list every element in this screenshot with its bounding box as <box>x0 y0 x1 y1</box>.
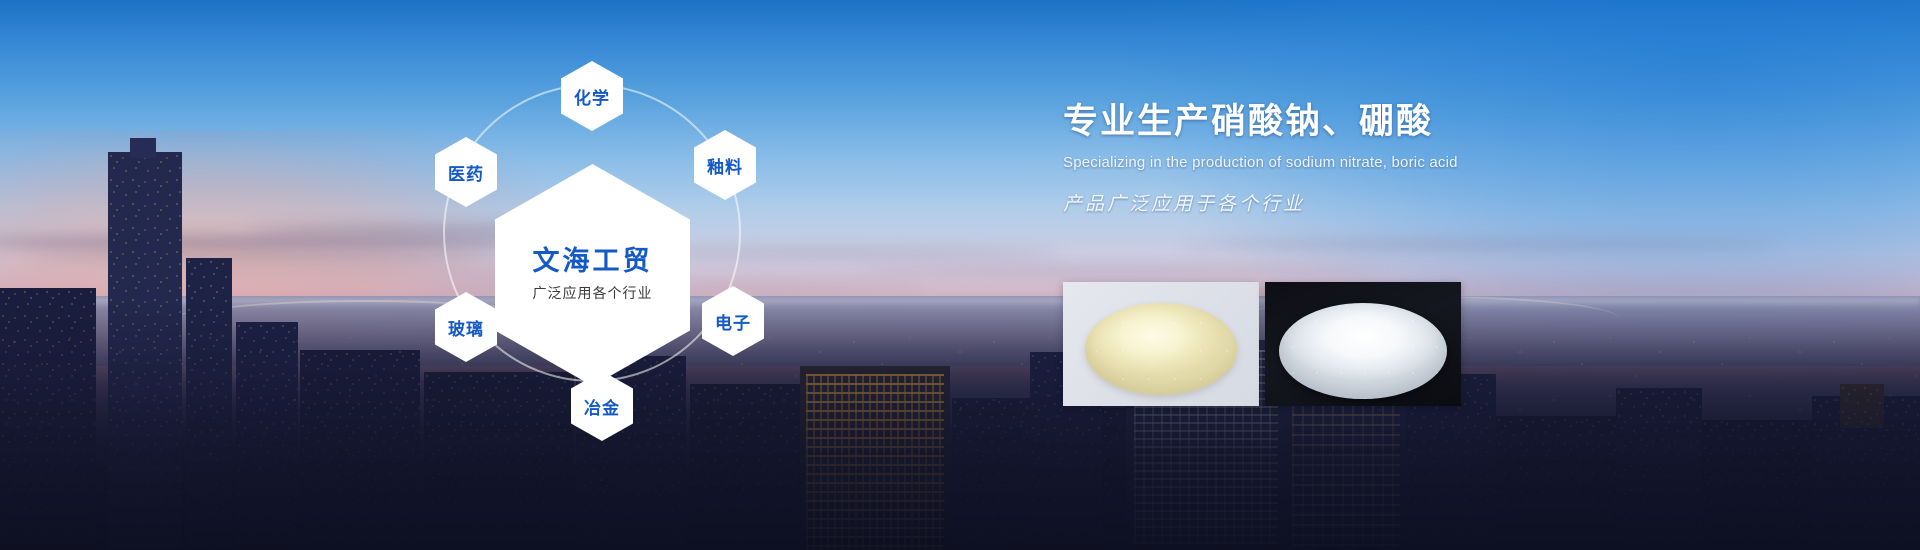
industry-hex-wheel: 化学 釉料 电子 冶金 玻璃 医药 文海工贸 广泛应用各个行业 <box>435 42 755 422</box>
headline: 专业生产硝酸钠、硼酸 <box>1063 100 1723 144</box>
hex-node-label: 化学 <box>574 84 610 109</box>
product-photo-sodium-nitrate[interactable] <box>1063 282 1259 406</box>
brand-tagline: 广泛应用各个行业 <box>533 283 653 303</box>
hex-node-label: 电子 <box>715 309 751 334</box>
subheadline-english: Specializing in the production of sodium… <box>1063 154 1723 171</box>
cloud-streak <box>1180 240 1780 250</box>
skyscraper-spire <box>130 138 156 158</box>
hex-node-label: 釉料 <box>707 153 743 178</box>
cloud-streak <box>1420 284 1920 292</box>
hex-node-label: 冶金 <box>584 394 620 419</box>
night-haze-overlay <box>0 300 1920 550</box>
product-photo-boric-acid[interactable] <box>1265 282 1461 406</box>
cloud-streak <box>30 252 500 262</box>
cloud-streak <box>860 266 1380 275</box>
hex-node-label: 医药 <box>448 160 484 185</box>
subheadline-chinese: 产品广泛应用于各个行业 <box>1063 189 1723 216</box>
hex-node-label: 玻璃 <box>448 315 484 340</box>
brand-name: 文海工贸 <box>533 247 653 277</box>
hero-banner: 化学 釉料 电子 冶金 玻璃 医药 文海工贸 广泛应用各个行业 专业生产硝酸钠、… <box>0 0 1920 550</box>
background-cityscape <box>0 0 1920 550</box>
powder-heap <box>1279 303 1447 399</box>
product-photo-group <box>1063 282 1461 406</box>
banner-copy: 专业生产硝酸钠、硼酸 Specializing in the productio… <box>1063 100 1723 216</box>
powder-heap <box>1085 303 1237 395</box>
